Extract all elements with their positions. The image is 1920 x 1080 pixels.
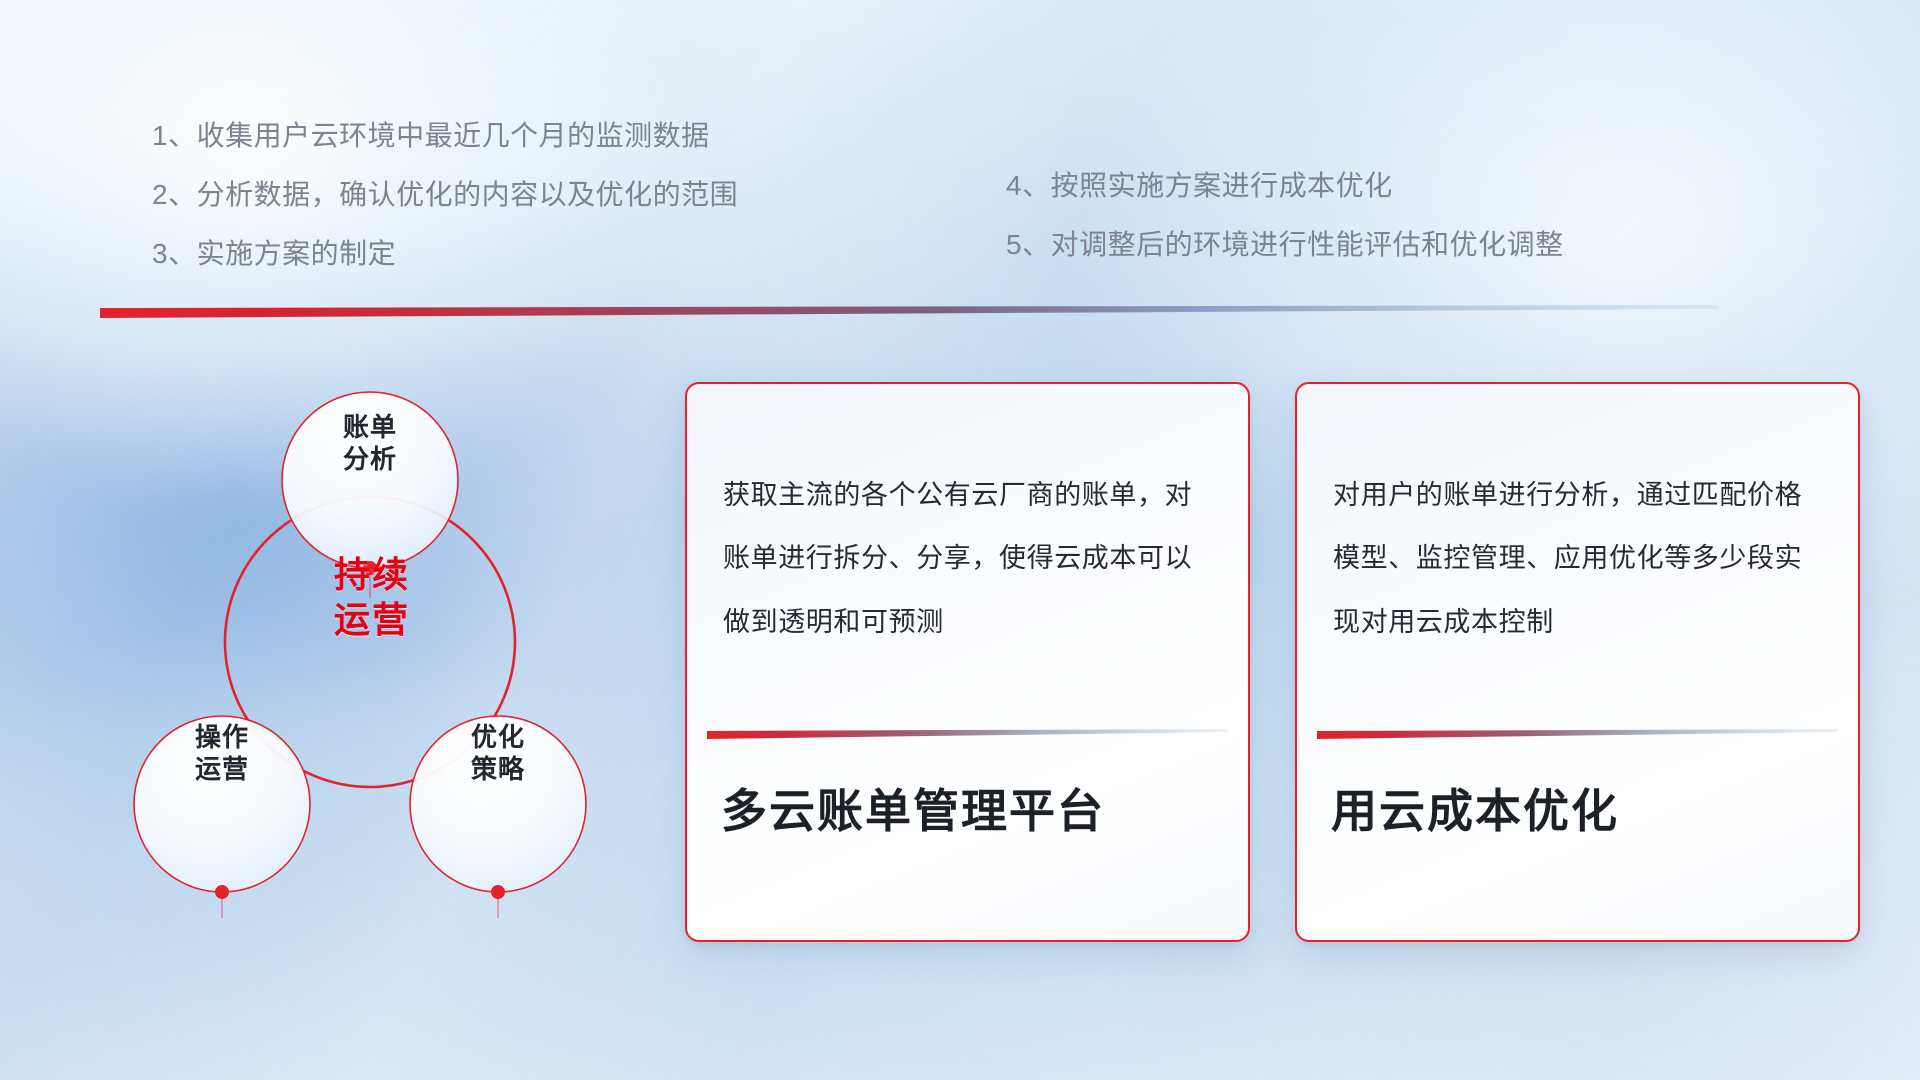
section-divider-shape	[100, 305, 1718, 321]
steps-list-right: 4、按照实施方案进行成本优化 5、对调整后的环境进行性能评估和优化调整	[1006, 172, 1564, 259]
step-item: 2、分析数据，确认优化的内容以及优化的范围	[152, 181, 738, 209]
connector-bottom-left	[215, 885, 229, 918]
continuous-operation-diagram: 账单 分析 操作 运营 优化 策略 持续 运营	[96, 352, 656, 952]
diagram-node-label-operations: 操作 运营	[142, 722, 302, 785]
card-divider	[1317, 728, 1838, 740]
connector-bottom-right	[491, 885, 505, 918]
card-body-text: 获取主流的各个公有云厂商的账单，对账单进行拆分、分享，使得云成本可以做到透明和可…	[687, 384, 1248, 728]
section-divider	[100, 305, 1718, 321]
step-item: 3、实施方案的制定	[152, 240, 738, 268]
diagram-center-label: 持续 运营	[282, 552, 462, 642]
diagram-node-label-optimization-policy: 优化 策略	[418, 722, 578, 785]
step-item: 5、对调整后的环境进行性能评估和优化调整	[1006, 231, 1564, 259]
step-item: 1、收集用户云环境中最近几个月的监测数据	[152, 122, 738, 150]
card-divider	[707, 728, 1228, 740]
feature-card-cloud-cost-optimization[interactable]: 对用户的账单进行分析，通过匹配价格模型、监控管理、应用优化等多少段实现对用云成本…	[1295, 382, 1860, 942]
step-item: 4、按照实施方案进行成本优化	[1006, 172, 1564, 200]
card-title: 多云账单管理平台	[687, 740, 1248, 839]
feature-card-multi-cloud-billing-platform[interactable]: 获取主流的各个公有云厂商的账单，对账单进行拆分、分享，使得云成本可以做到透明和可…	[685, 382, 1250, 942]
slide-canvas: 1、收集用户云环境中最近几个月的监测数据 2、分析数据，确认优化的内容以及优化的…	[0, 0, 1920, 1080]
steps-list-left: 1、收集用户云环境中最近几个月的监测数据 2、分析数据，确认优化的内容以及优化的…	[152, 122, 738, 268]
card-body-text: 对用户的账单进行分析，通过匹配价格模型、监控管理、应用优化等多少段实现对用云成本…	[1297, 384, 1858, 728]
card-title: 用云成本优化	[1297, 740, 1858, 839]
diagram-node-label-billing-analysis: 账单 分析	[290, 412, 450, 475]
